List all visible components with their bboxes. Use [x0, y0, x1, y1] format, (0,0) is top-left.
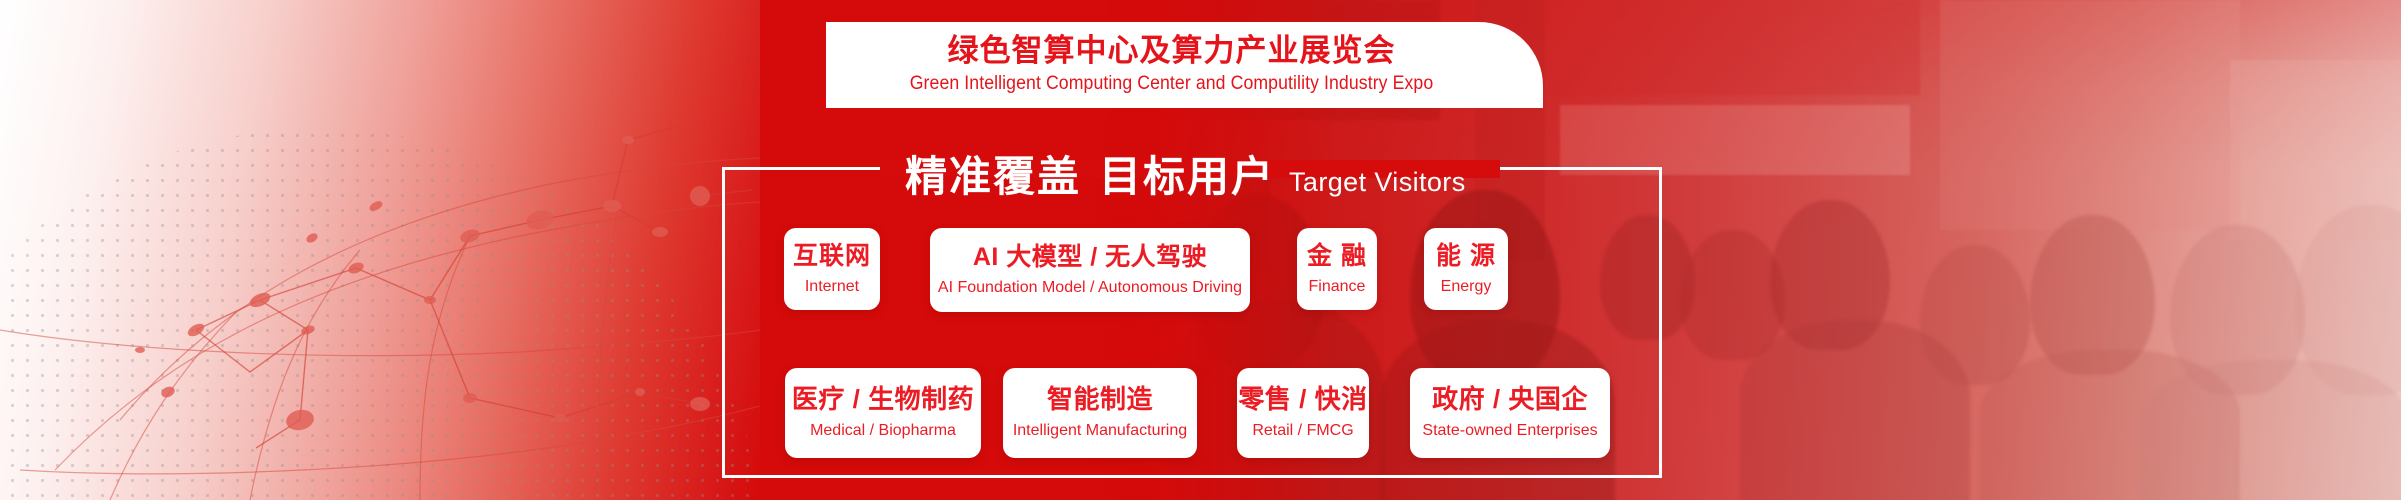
- category-card-retail-cn: 零售 / 快消: [1238, 385, 1367, 415]
- category-card-manufacturing-cn: 智能制造: [1047, 385, 1153, 415]
- category-card-energy-en: Energy: [1441, 277, 1492, 296]
- category-card-internet[interactable]: 互联网 Internet: [784, 228, 880, 310]
- category-card-internet-en: Internet: [805, 277, 859, 296]
- category-card-ai[interactable]: AI 大模型 / 无人驾驶 AI Foundation Model / Auto…: [930, 228, 1250, 312]
- category-card-government[interactable]: 政府 / 央国企 State-owned Enterprises: [1410, 368, 1610, 458]
- category-card-ai-cn: AI 大模型 / 无人驾驶: [973, 243, 1207, 272]
- category-card-finance[interactable]: 金 融 Finance: [1297, 228, 1377, 310]
- category-card-ai-en: AI Foundation Model / Autonomous Driving: [938, 278, 1242, 297]
- category-card-finance-en: Finance: [1309, 277, 1366, 296]
- category-card-energy[interactable]: 能 源 Energy: [1424, 228, 1508, 310]
- category-card-medical-en: Medical / Biopharma: [810, 421, 956, 440]
- category-card-manufacturing-en: Intelligent Manufacturing: [1013, 421, 1187, 440]
- category-card-manufacturing[interactable]: 智能制造 Intelligent Manufacturing: [1003, 368, 1197, 458]
- category-card-finance-cn: 金 融: [1307, 242, 1367, 271]
- category-card-group: 互联网 Internet AI 大模型 / 无人驾驶 AI Foundation…: [0, 0, 2401, 500]
- category-card-government-cn: 政府 / 央国企: [1432, 385, 1588, 415]
- category-card-energy-cn: 能 源: [1436, 242, 1496, 271]
- category-card-medical-cn: 医疗 / 生物制药: [792, 385, 974, 415]
- category-card-medical[interactable]: 医疗 / 生物制药 Medical / Biopharma: [785, 368, 981, 458]
- category-card-government-en: State-owned Enterprises: [1422, 421, 1597, 440]
- category-card-internet-cn: 互联网: [793, 242, 871, 271]
- expo-banner: 绿色智算中心及算力产业展览会 Green Intelligent Computi…: [0, 0, 2401, 500]
- category-card-retail-en: Retail / FMCG: [1252, 421, 1353, 440]
- category-card-retail[interactable]: 零售 / 快消 Retail / FMCG: [1237, 368, 1369, 458]
